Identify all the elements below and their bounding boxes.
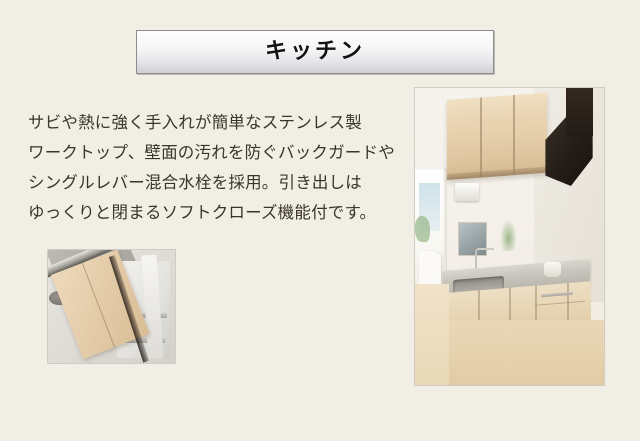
description-line: ゆっくりと閉まるソフトクローズ機能付です。 (28, 198, 408, 228)
soft-close-drawer-photo (48, 250, 175, 363)
cabinet-seam (480, 97, 482, 177)
kitchen-feature-page: キッチン サビや熱に強く手入れが簡単なステンレス製 ワークトップ、壁面の汚れを防… (0, 0, 640, 441)
description-text-block: サビや熱に強く手入れが簡単なステンレス製 ワークトップ、壁面の汚れを防ぐバックガ… (28, 108, 408, 228)
section-title-banner: キッチン (136, 30, 494, 74)
description-line: サビや熱に強く手入れが簡単なステンレス製 (28, 108, 408, 138)
range-hood-duct (566, 88, 592, 136)
panel-seam (81, 263, 115, 348)
description-line: ワークトップ、壁面の汚れを防ぐバックガードや (28, 138, 408, 168)
kettle (544, 262, 561, 277)
description-line: シングルレバー混合水栓を採用。引き出しは (28, 168, 408, 198)
page-title: キッチン (265, 41, 365, 63)
floor-left-area (415, 284, 449, 385)
window-foliage (415, 216, 430, 243)
kitchen-overview-photo (415, 88, 604, 385)
air-conditioner (455, 183, 480, 201)
drawer-photo-scene (48, 250, 175, 363)
kitchen-photo-scene (415, 88, 604, 385)
potted-plant (500, 219, 517, 252)
upper-cabinets (447, 93, 547, 181)
cabinet-seam (513, 95, 515, 175)
